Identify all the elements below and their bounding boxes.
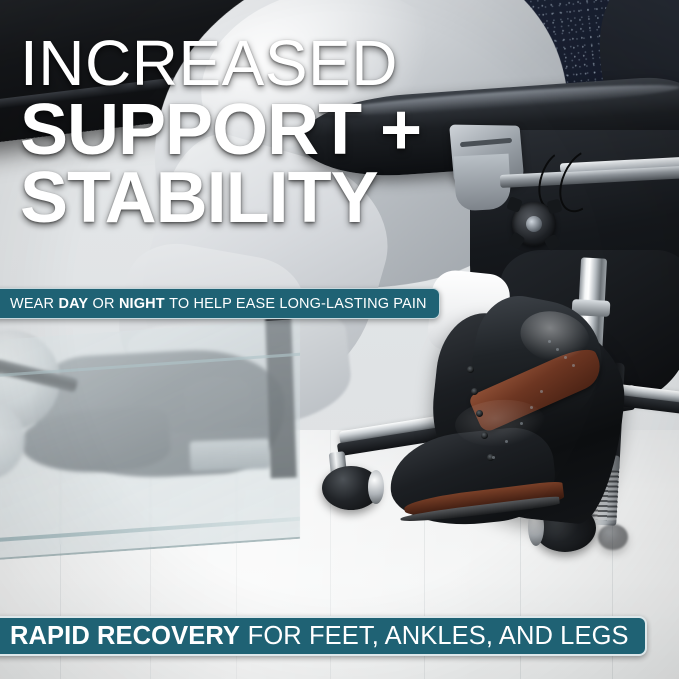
headline-line-3: STABILITY <box>20 165 660 231</box>
boot-eyelet <box>476 410 483 417</box>
boot-brogue-perforation <box>530 406 533 409</box>
caster-left-rim <box>368 470 384 504</box>
boot-brogue-perforation <box>540 390 543 393</box>
headline-line-1: INCREASED <box>20 34 660 93</box>
headline-block: INCREASED SUPPORT + STABILITY <box>20 34 660 231</box>
banner-top-suffix: TO HELP EASE LONG-LASTING PAIN <box>169 296 427 312</box>
boot-brogue-perforation <box>572 364 575 367</box>
boot-brogue-perforation <box>492 456 495 459</box>
footer-banner-bold: RAPID RECOVERY <box>10 622 240 651</box>
banner-top-prefix: WEAR <box>10 296 54 312</box>
banner-top-middle: OR <box>93 296 115 312</box>
boot-brogue-perforation <box>505 440 508 443</box>
boot-brogue-perforation <box>520 422 523 425</box>
boot-eyelet <box>471 388 478 395</box>
boot-brogue-perforation <box>548 340 551 343</box>
subheadline-banner: WEARDAYORNIGHTTO HELP EASE LONG-LASTING … <box>0 288 440 319</box>
headline-line-2: SUPPORT + <box>20 97 660 163</box>
advertisement-image: INCREASED SUPPORT + STABILITY WEARDAYORN… <box>0 0 679 679</box>
banner-top-bold-day: DAY <box>58 296 88 312</box>
footer-banner-regular: FOR FEET, ANKLES, AND LEGS <box>248 622 629 651</box>
boot-eyelet <box>467 366 474 373</box>
banner-top-bold-night: NIGHT <box>119 296 165 312</box>
boot-brogue-perforation <box>564 356 567 359</box>
footer-banner: RAPID RECOVERYFOR FEET, ANKLES, AND LEGS <box>0 616 647 656</box>
boot-eyelet <box>481 432 488 439</box>
caster-back <box>598 524 628 550</box>
boot-brogue-perforation <box>556 348 559 351</box>
